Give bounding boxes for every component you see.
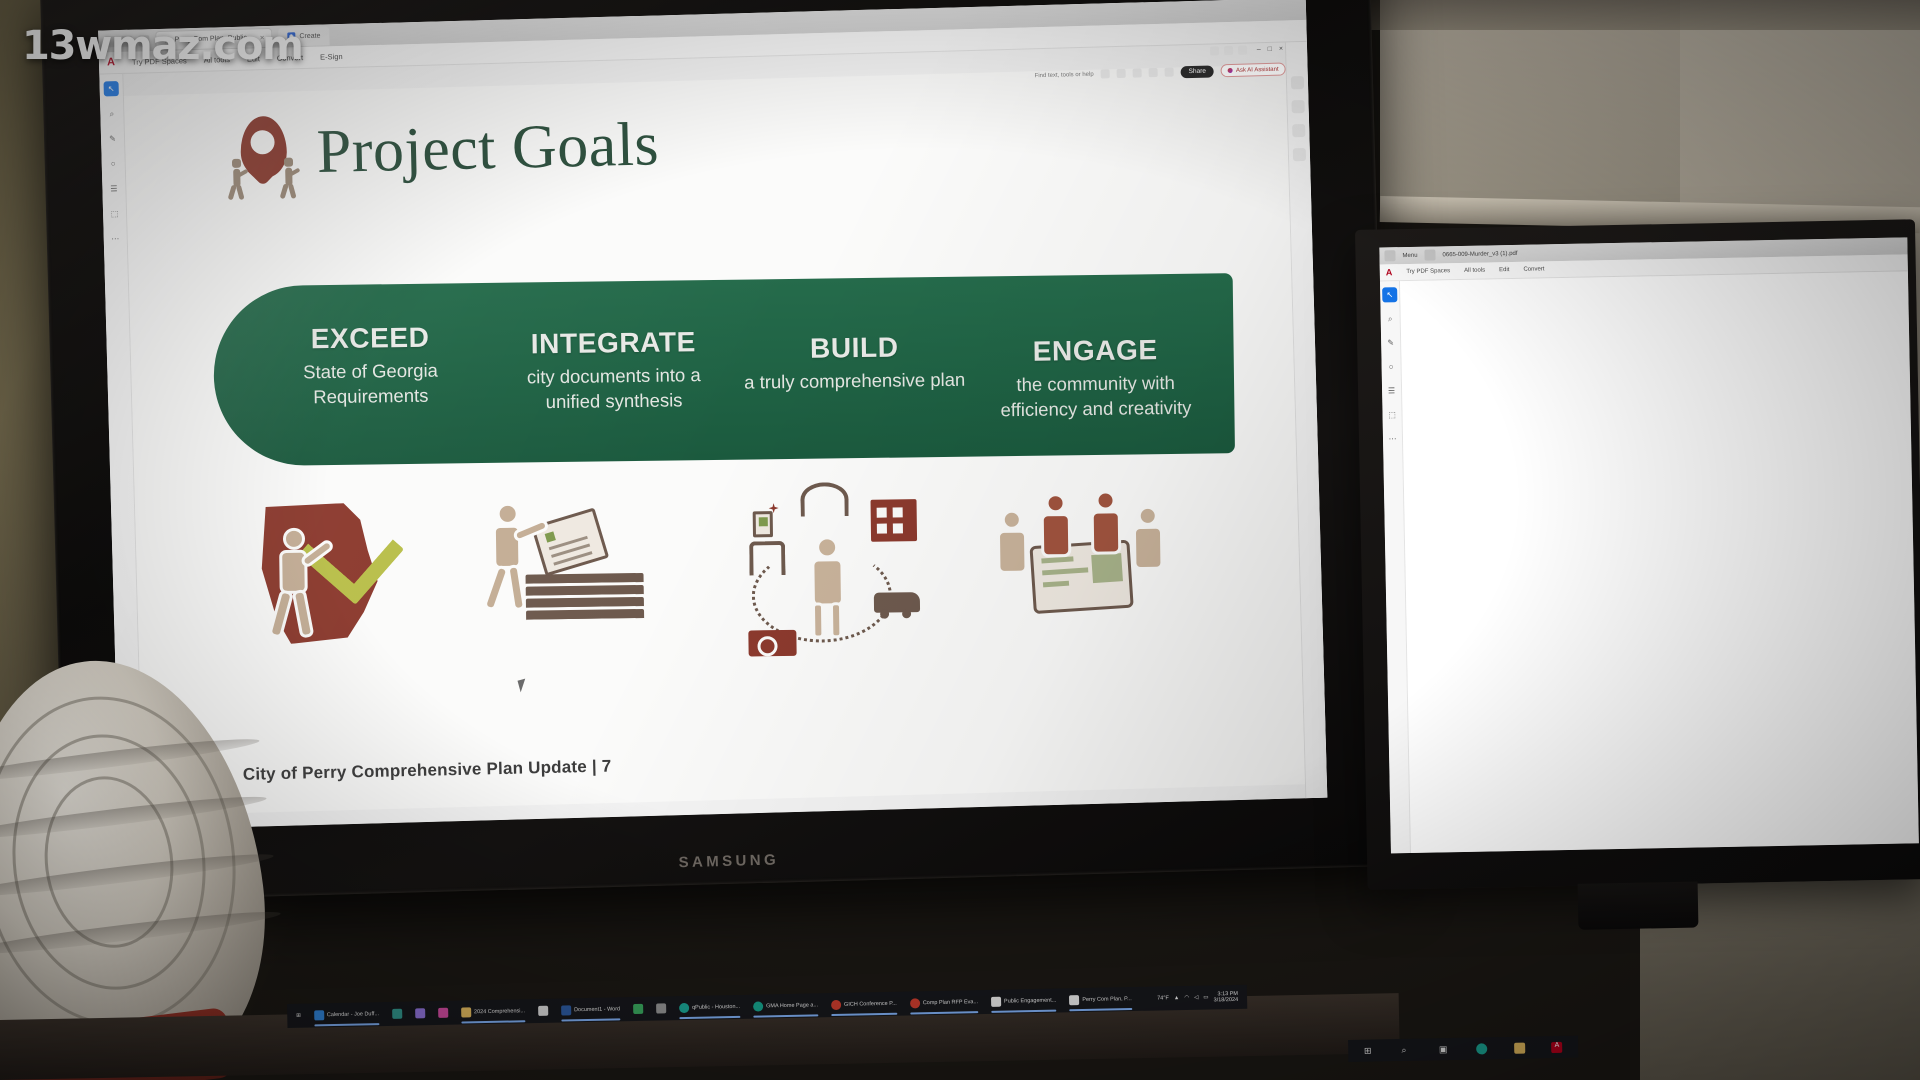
menu-icon[interactable] — [1384, 250, 1395, 261]
tv-screen: ☆ Perry Com Plan, Public... × Create A T… — [98, 0, 1327, 830]
community-map-icon — [980, 473, 1233, 676]
notification-icon[interactable] — [1224, 46, 1233, 55]
ai-assistant-button[interactable]: Ask AI Assistant — [1221, 62, 1286, 77]
volume-icon[interactable]: ◁ — [1194, 995, 1198, 1001]
highlight-tool-icon[interactable]: ✎ — [1383, 335, 1398, 350]
goal-heading: EXCEED — [253, 321, 487, 356]
window-controls-row: – □ × — [1210, 45, 1283, 56]
logo-figure-left — [227, 159, 248, 199]
menu-item-convert[interactable]: Convert — [1523, 266, 1544, 272]
taskbar-item-label: 2024 Comprehensi... — [474, 1008, 525, 1015]
sparkle-icon — [1228, 68, 1233, 73]
app-icon — [438, 1008, 448, 1018]
slide-footer: City of Perry Comprehensive Plan Update … — [243, 756, 612, 784]
taskbar-item-public-engagement[interactable]: Public Engagement... — [987, 991, 1061, 1011]
edge-icon[interactable] — [1476, 1043, 1487, 1054]
taskbar-item-perry-com-plan[interactable]: Perry Com Plan, P... — [1065, 989, 1136, 1009]
more-tools-icon[interactable]: ⋯ — [1385, 431, 1400, 446]
goal-text: State of Georgia Requirements — [254, 358, 488, 410]
secondary-taskbar: ⊞ ⌕ ▣ A — [1348, 1036, 1578, 1062]
taskbar-item-qpublic[interactable]: qPublic - Houston... — [675, 997, 744, 1017]
pdf-icon — [991, 997, 1001, 1007]
documents-stack-icon — [480, 480, 733, 683]
stamp-tool-icon[interactable]: ⬚ — [107, 206, 122, 221]
goal-heading: INTEGRATE — [499, 326, 728, 361]
goal-exceed: EXCEED State of Georgia Requirements — [213, 321, 494, 411]
taskbar-item-label: Comp Plan RFP Eva... — [923, 999, 978, 1006]
taskbar-item-label: Calendar - Joe Duff... — [327, 1011, 379, 1018]
explorer-icon[interactable] — [1514, 1042, 1525, 1053]
comment-panel-icon[interactable] — [1293, 148, 1306, 161]
zoom-tool-icon[interactable]: ⌕ — [1383, 311, 1398, 326]
page-title: Project Goals — [316, 109, 660, 188]
tv-brand-label: SAMSUNG — [678, 851, 779, 871]
taskbar-item-label: Public Engagement... — [1004, 998, 1056, 1005]
search-input[interactable]: Find text, tools or help — [1035, 71, 1094, 79]
menu-item-all-tools[interactable]: All tools — [1464, 268, 1485, 274]
app-icon — [633, 1004, 643, 1014]
menu-item-esign[interactable]: E-Sign — [320, 52, 343, 62]
goal-text: a truly comprehensive plan — [740, 368, 969, 396]
document-icon — [461, 1007, 471, 1017]
room-scene: SAMSUNG ☆ Perry Com Plan, Public... × Cr… — [0, 0, 1920, 1080]
search-icon[interactable]: ⌕ — [1401, 1044, 1412, 1055]
tripod-icon — [749, 541, 785, 575]
taskbar-item-4[interactable] — [434, 1003, 452, 1022]
taskbar-item-label: GMA Home Page a... — [766, 1002, 818, 1009]
wifi-icon[interactable]: ◠ — [1184, 995, 1189, 1001]
bookmark-icon[interactable] — [1291, 100, 1304, 113]
browser-icon — [910, 998, 920, 1008]
select-tool-icon[interactable]: ↖ — [1382, 287, 1397, 302]
person-figure — [1036, 493, 1075, 586]
home-icon[interactable] — [1424, 249, 1435, 260]
acrobat-logo-icon: A — [1386, 268, 1393, 277]
search-icon[interactable] — [1101, 69, 1110, 78]
taskbar-item-word[interactable]: Document1 - Word — [557, 1000, 624, 1020]
menu-item-pdf-spaces[interactable]: Try PDF Spaces — [1406, 268, 1450, 275]
download-icon[interactable] — [1164, 68, 1173, 77]
pdf-page[interactable]: Project Goals EXCEED State of Georgia Re… — [124, 64, 1305, 815]
goal-build: BUILD a truly comprehensive plan — [733, 315, 975, 396]
select-tool-icon[interactable]: ↖ — [104, 81, 119, 96]
wall-upper — [1380, 0, 1680, 215]
goals-banner: EXCEED State of Georgia Requirements INT… — [213, 273, 1235, 466]
start-icon[interactable]: ⊞ — [1364, 1045, 1375, 1056]
person-figure — [993, 510, 1032, 603]
browser-icon — [679, 1003, 689, 1013]
taskbar-item-9[interactable] — [652, 999, 670, 1018]
zoom-tool-icon[interactable]: ⌕ — [104, 106, 119, 121]
pdf-icon — [1069, 995, 1079, 1005]
ai-assistant-label: Ask AI Assistant — [1236, 66, 1279, 73]
clock-date: 3/18/2024 — [1214, 997, 1239, 1004]
camera-icon — [748, 630, 796, 657]
georgia-checkmark-icon — [230, 483, 483, 686]
handshake-icon — [800, 482, 848, 517]
taskbar-item-3[interactable] — [411, 1004, 429, 1023]
close-window-icon[interactable]: × — [1279, 46, 1283, 53]
taskbar-item-label: GICH Conference P... — [844, 1001, 897, 1008]
browser-icon — [831, 1000, 841, 1010]
app-icon — [415, 1008, 425, 1018]
community-cluster-icon — [730, 476, 983, 679]
person-figure — [269, 527, 329, 640]
more-tools-icon[interactable]: ⋯ — [108, 231, 123, 246]
taskbar-item-2[interactable] — [388, 1004, 406, 1023]
monitor2-stand — [1578, 882, 1699, 930]
broadcaster-watermark: 13wmaz.com — [22, 23, 303, 69]
goal-engage: ENGAGE the community with efficiency and… — [974, 311, 1216, 422]
maximize-icon[interactable]: □ — [1268, 46, 1272, 53]
person-figure — [1129, 506, 1168, 599]
taskbar-item-gma[interactable]: GMA Home Page a... — [749, 996, 822, 1016]
temperature-label: 74°F — [1157, 995, 1169, 1001]
fill-sign-tool-icon[interactable]: ☰ — [106, 181, 121, 196]
start-button[interactable]: ⊞ — [292, 1006, 305, 1025]
comment-tool-icon[interactable]: ○ — [106, 156, 121, 171]
app-icon — [538, 1006, 548, 1016]
taskbar-item-gich[interactable]: GICH Conference P... — [827, 994, 901, 1014]
goal-icons-row — [230, 473, 1233, 687]
minimize-icon[interactable]: – — [1257, 46, 1261, 53]
car-icon — [874, 592, 920, 613]
browser-icon — [753, 1001, 763, 1011]
monitor2-screen: Menu 0665-009-Murder_v3 (1).pdf A Try PD… — [1379, 237, 1919, 853]
taskbar-item-calendar[interactable]: Calendar - Joe Duff... — [310, 1005, 384, 1025]
secondary-display: Menu 0665-009-Murder_v3 (1).pdf A Try PD… — [1355, 219, 1920, 890]
building-icon — [871, 499, 918, 542]
monitor2-document-title: 0665-009-Murder_v3 (1).pdf — [1442, 250, 1517, 257]
comment-tool-icon[interactable]: ○ — [1383, 359, 1398, 374]
acrobat-icon[interactable]: A — [1551, 1041, 1562, 1052]
stamp-tool-icon[interactable]: ⬚ — [1384, 407, 1399, 422]
taskbar-item-rfp[interactable]: Comp Plan RFP Eva... — [906, 993, 983, 1014]
highlight-tool-icon[interactable]: ✎ — [105, 131, 120, 146]
logo-figure-right — [279, 157, 300, 197]
rotate-icon[interactable] — [1132, 68, 1141, 77]
paper-stack — [525, 565, 644, 623]
taskbar-item-6[interactable] — [534, 1001, 552, 1020]
monitor2-document-area[interactable] — [1400, 271, 1919, 853]
acrobat-window: ☆ Perry Com Plan, Public... × Create A T… — [98, 0, 1327, 830]
clock[interactable]: 3:13 PM 3/18/2024 — [1213, 991, 1238, 1004]
goal-heading: BUILD — [740, 331, 969, 366]
person-figure — [487, 502, 541, 613]
taskview-icon[interactable]: ▣ — [1439, 1044, 1450, 1055]
system-tray: 74°F ▲ ◠ ◁ ▭ 3:13 PM 3/18/2024 — [1157, 991, 1242, 1005]
monitor2-menu-label[interactable]: Menu — [1402, 252, 1417, 258]
calendar-icon — [314, 1010, 324, 1020]
page-thumbnails-icon[interactable] — [1291, 76, 1304, 89]
battery-icon[interactable]: ▭ — [1203, 995, 1208, 1001]
taskbar-item-label: Document1 - Word — [574, 1006, 620, 1013]
perry-plan-pin-logo — [226, 115, 300, 199]
clipboard-icon — [753, 511, 773, 537]
taskbar-item-label: qPublic - Houston... — [692, 1004, 740, 1011]
settings-icon[interactable] — [1210, 46, 1219, 55]
app-icon — [656, 1003, 666, 1013]
person-figure — [805, 536, 850, 637]
attachment-icon[interactable] — [1292, 124, 1305, 137]
goal-text: city documents into a unified synthesis — [499, 363, 728, 415]
fill-sign-tool-icon[interactable]: ☰ — [1384, 383, 1399, 398]
taskbar-item-comprehensive[interactable]: 2024 Comprehensi... — [457, 1002, 529, 1022]
pages-icon[interactable] — [1116, 69, 1125, 78]
word-icon — [561, 1005, 571, 1015]
goal-text: the community with efficiency and creati… — [981, 370, 1210, 422]
app-icon — [392, 1009, 402, 1019]
account-icon[interactable] — [1238, 46, 1247, 55]
share-button[interactable]: Share — [1180, 65, 1214, 78]
taskbar-item-8[interactable] — [629, 999, 647, 1018]
goal-heading: ENGAGE — [981, 333, 1210, 368]
taskbar-item-label: Perry Com Plan, P... — [1082, 996, 1132, 1003]
goal-integrate: INTEGRATE city documents into a unified … — [493, 318, 735, 415]
menu-item-edit[interactable]: Edit — [1499, 267, 1509, 273]
print-icon[interactable] — [1148, 68, 1157, 77]
network-icon[interactable]: ▲ — [1174, 995, 1180, 1001]
person-figure — [1086, 490, 1125, 583]
